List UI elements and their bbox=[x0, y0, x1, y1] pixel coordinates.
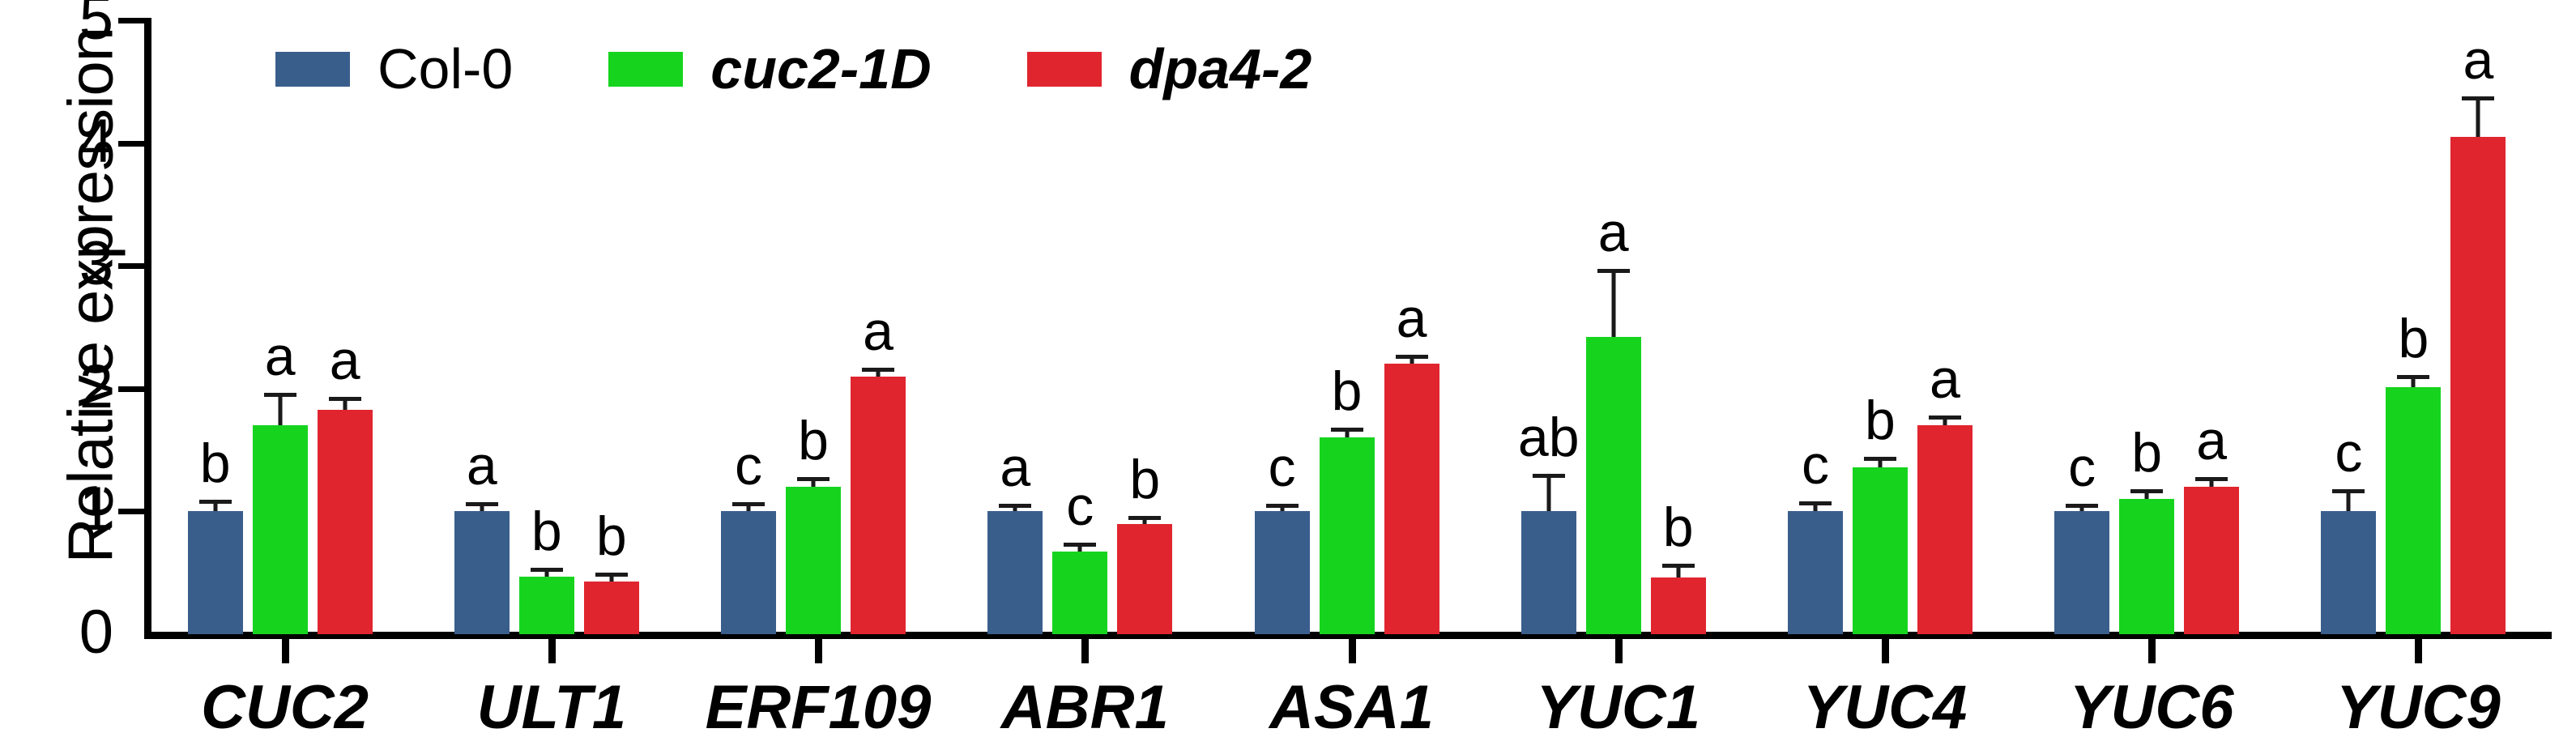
bar-rect bbox=[1320, 437, 1375, 634]
bar-rect bbox=[1384, 364, 1439, 634]
error-bar bbox=[747, 506, 751, 511]
error-bar bbox=[1611, 273, 1615, 337]
bar-yuc4-cuc2-1d[interactable]: b bbox=[1853, 467, 1908, 634]
significance-letter: a bbox=[265, 329, 296, 384]
bar-rect bbox=[1521, 511, 1576, 634]
bar-rect bbox=[1853, 467, 1908, 634]
bar-rect bbox=[188, 511, 243, 634]
x-label-yuc6: YUC6 bbox=[2018, 677, 2285, 739]
x-tick-yuc4 bbox=[1882, 639, 1889, 663]
bar-rect bbox=[2184, 487, 2239, 634]
x-label-ult1: ULT1 bbox=[418, 677, 685, 739]
error-bar-cap bbox=[1929, 415, 1961, 420]
bar-rect bbox=[1255, 511, 1310, 634]
x-label-yuc1: YUC1 bbox=[1485, 677, 1752, 739]
significance-letter: c bbox=[1802, 437, 1829, 492]
error-bar bbox=[609, 577, 613, 582]
significance-letter: c bbox=[1269, 440, 1296, 495]
significance-letter: b bbox=[1865, 393, 1896, 448]
error-bar bbox=[1345, 432, 1349, 438]
error-bar-cap bbox=[531, 568, 563, 572]
bar-erf109-dpa4-2[interactable]: a bbox=[851, 377, 906, 634]
significance-letter: c bbox=[2068, 440, 2096, 495]
error-bar-cap bbox=[2130, 489, 2163, 493]
bar-rect bbox=[1052, 552, 1107, 634]
error-bar bbox=[876, 372, 881, 377]
x-label-abr1: ABR1 bbox=[951, 677, 1218, 739]
error-bar-cap bbox=[1597, 269, 1630, 273]
significance-letter: a bbox=[467, 438, 497, 493]
significance-letter: a bbox=[863, 304, 893, 359]
error-bar-cap bbox=[999, 504, 1031, 508]
error-bar bbox=[1280, 508, 1284, 512]
error-bar bbox=[343, 401, 347, 410]
significance-letter: c bbox=[2335, 425, 2362, 480]
significance-letter: b bbox=[1129, 452, 1160, 507]
plot-area: baaabbcbaacbcbaababcbacbacba bbox=[0, 0, 2576, 750]
significance-letter: b bbox=[1332, 364, 1363, 419]
bar-rect bbox=[1788, 511, 1843, 634]
bar-asa1-col-0[interactable]: c bbox=[1255, 511, 1310, 634]
bar-rect bbox=[851, 377, 906, 634]
error-bar bbox=[812, 481, 816, 488]
error-bar-cap bbox=[199, 500, 232, 504]
error-bar bbox=[1943, 420, 1947, 426]
error-bar-cap bbox=[1533, 474, 1565, 478]
error-bar-cap bbox=[329, 397, 361, 401]
error-bar bbox=[2210, 481, 2214, 488]
bar-rect bbox=[2054, 511, 2109, 634]
significance-letter: b bbox=[1663, 500, 1694, 555]
error-bar bbox=[544, 572, 548, 577]
error-bar-cap bbox=[264, 393, 296, 397]
error-bar bbox=[2412, 379, 2416, 388]
error-bar bbox=[2145, 493, 2149, 500]
significance-letter: a bbox=[2196, 413, 2227, 468]
bar-abr1-cuc2-1d[interactable]: c bbox=[1052, 552, 1107, 634]
significance-letter: b bbox=[798, 413, 829, 468]
error-bar-cap bbox=[2462, 96, 2494, 100]
bar-yuc6-cuc2-1d[interactable]: b bbox=[2119, 499, 2174, 634]
error-bar-cap bbox=[1799, 501, 1832, 505]
bar-rect bbox=[721, 511, 776, 634]
error-bar-cap bbox=[595, 573, 628, 577]
x-tick-yuc6 bbox=[2148, 639, 2156, 663]
bar-ult1-cuc2-1d[interactable]: b bbox=[519, 577, 574, 634]
error-bar-cap bbox=[2066, 504, 2098, 508]
bar-chart-figure: Relative expression 012345 Col-0 cuc2-1D… bbox=[0, 0, 2576, 750]
significance-letter: a bbox=[330, 333, 360, 388]
bar-asa1-cuc2-1d[interactable]: b bbox=[1320, 437, 1375, 634]
bar-yuc1-col-0[interactable]: ab bbox=[1521, 511, 1576, 634]
x-tick-ult1 bbox=[548, 639, 556, 663]
bar-yuc9-col-0[interactable]: c bbox=[2321, 511, 2376, 634]
bar-yuc1-cuc2-1d[interactable]: a bbox=[1586, 337, 1641, 634]
bar-cuc2-cuc2-1d[interactable]: a bbox=[253, 425, 308, 634]
bar-abr1-dpa4-2[interactable]: b bbox=[1117, 524, 1172, 634]
error-bar bbox=[1676, 568, 1680, 577]
significance-letter: a bbox=[1397, 291, 1427, 346]
bar-rect bbox=[2321, 511, 2376, 634]
bar-rect bbox=[786, 487, 841, 634]
x-label-yuc9: YUC9 bbox=[2284, 677, 2552, 739]
bar-rect bbox=[1117, 524, 1172, 634]
significance-letter: b bbox=[531, 504, 562, 559]
bar-rect bbox=[584, 582, 639, 634]
error-bar bbox=[1078, 547, 1082, 552]
error-bar bbox=[1410, 359, 1414, 364]
bar-rect bbox=[2450, 137, 2506, 634]
error-bar-cap bbox=[1396, 355, 1428, 359]
bar-erf109-cuc2-1d[interactable]: b bbox=[786, 487, 841, 634]
x-tick-asa1 bbox=[1349, 639, 1356, 663]
bar-rect bbox=[1651, 577, 1706, 634]
x-tick-abr1 bbox=[1081, 639, 1089, 663]
bar-rect bbox=[1586, 337, 1641, 634]
bar-rect bbox=[987, 511, 1043, 634]
x-label-yuc4: YUC4 bbox=[1751, 677, 2019, 739]
bar-rect bbox=[519, 577, 574, 634]
error-bar-cap bbox=[797, 477, 830, 481]
error-bar bbox=[480, 506, 484, 511]
x-label-erf109: ERF109 bbox=[685, 677, 952, 739]
significance-letter: c bbox=[1066, 479, 1094, 534]
x-tick-yuc1 bbox=[1615, 639, 1623, 663]
significance-letter: ab bbox=[1518, 410, 1580, 465]
bar-yuc6-col-0[interactable]: c bbox=[2054, 511, 2109, 634]
bar-yuc9-cuc2-1d[interactable]: b bbox=[2386, 387, 2441, 634]
error-bar bbox=[1878, 461, 1882, 467]
significance-letter: b bbox=[2398, 311, 2429, 366]
x-label-asa1: ASA1 bbox=[1218, 677, 1486, 739]
significance-letter: a bbox=[1000, 440, 1030, 495]
error-bar-cap bbox=[2332, 489, 2365, 493]
bar-ult1-dpa4-2[interactable]: b bbox=[584, 582, 639, 634]
error-bar bbox=[2347, 493, 2351, 512]
error-bar bbox=[1546, 478, 1550, 511]
error-bar bbox=[213, 504, 217, 511]
bar-rect bbox=[454, 511, 510, 634]
significance-letter: a bbox=[2463, 32, 2493, 87]
error-bar bbox=[2476, 100, 2480, 137]
bar-rect bbox=[2386, 387, 2441, 634]
error-bar-cap bbox=[862, 368, 894, 372]
bar-rect bbox=[318, 410, 373, 634]
bar-yuc4-col-0[interactable]: c bbox=[1788, 511, 1843, 634]
error-bar-cap bbox=[1266, 504, 1299, 508]
bar-yuc4-dpa4-2[interactable]: a bbox=[1917, 425, 1973, 634]
significance-letter: a bbox=[1930, 352, 1960, 407]
x-tick-yuc9 bbox=[2415, 639, 2422, 663]
bar-ult1-col-0[interactable]: a bbox=[454, 511, 510, 634]
error-bar bbox=[278, 397, 282, 425]
error-bar-cap bbox=[1128, 516, 1161, 520]
error-bar-cap bbox=[466, 502, 498, 506]
bar-rect bbox=[2119, 499, 2174, 634]
error-bar-cap bbox=[732, 502, 765, 506]
significance-letter: b bbox=[200, 436, 231, 491]
error-bar bbox=[2080, 508, 2084, 512]
significance-letter: b bbox=[2131, 425, 2162, 480]
significance-letter: a bbox=[1598, 205, 1629, 260]
bar-rect bbox=[253, 425, 308, 634]
error-bar bbox=[1143, 520, 1147, 524]
error-bar-cap bbox=[1331, 428, 1363, 432]
error-bar-cap bbox=[2397, 375, 2429, 379]
significance-letter: c bbox=[735, 438, 762, 493]
x-tick-erf109 bbox=[815, 639, 822, 663]
error-bar bbox=[1813, 505, 1817, 512]
bar-asa1-dpa4-2[interactable]: a bbox=[1384, 364, 1439, 634]
error-bar-cap bbox=[1662, 564, 1695, 568]
error-bar bbox=[1013, 508, 1017, 512]
bar-rect bbox=[1917, 425, 1973, 634]
x-tick-cuc2 bbox=[282, 639, 289, 663]
significance-letter: b bbox=[596, 509, 627, 564]
error-bar-cap bbox=[1064, 543, 1096, 547]
bar-erf109-col-0[interactable]: c bbox=[721, 511, 776, 634]
x-label-cuc2: CUC2 bbox=[151, 677, 419, 739]
error-bar-cap bbox=[1864, 457, 1896, 461]
bar-abr1-col-0[interactable]: a bbox=[987, 511, 1043, 634]
bar-yuc6-dpa4-2[interactable]: a bbox=[2184, 487, 2239, 634]
bar-cuc2-dpa4-2[interactable]: a bbox=[318, 410, 373, 634]
error-bar-cap bbox=[2195, 477, 2228, 481]
bar-yuc9-dpa4-2[interactable]: a bbox=[2450, 137, 2506, 634]
bar-cuc2-col-0[interactable]: b bbox=[188, 511, 243, 634]
bar-yuc1-dpa4-2[interactable]: b bbox=[1651, 577, 1706, 634]
